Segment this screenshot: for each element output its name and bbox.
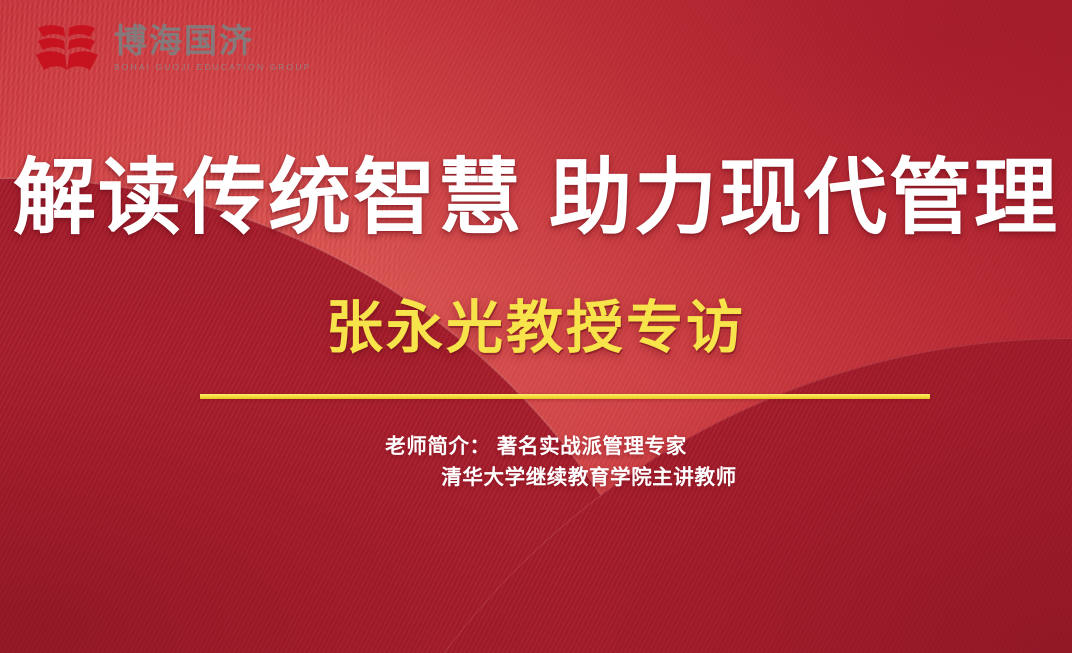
open-book-logo-icon — [34, 22, 100, 76]
brand-logo-text: 博海国济 BOHAI GUOJI EDUCATION GROUP — [114, 22, 309, 72]
brand-name-en: BOHAI GUOJI EDUCATION GROUP — [114, 62, 311, 72]
brand-name-cn: 博海国济 — [114, 24, 309, 57]
divider-rule — [200, 394, 930, 399]
page-subtitle: 张永光教授专访 — [0, 300, 1072, 357]
speaker-bio-line-2: 清华大学继续教育学院主讲教师 — [0, 462, 1072, 493]
poster-content: 博海国济 BOHAI GUOJI EDUCATION GROUP 解读传统智慧助… — [0, 0, 1072, 653]
page-title-part-1: 解读传统智慧 — [13, 151, 523, 244]
speaker-bio-line-1: 老师简介： 著名实战派管理专家 — [0, 431, 1072, 462]
brand-logo: 博海国济 BOHAI GUOJI EDUCATION GROUP — [34, 22, 309, 76]
speaker-bio: 老师简介： 著名实战派管理专家 清华大学继续教育学院主讲教师 — [0, 431, 1072, 493]
page-title: 解读传统智慧助力现代管理 — [0, 156, 1072, 239]
page-title-part-2: 助力现代管理 — [549, 151, 1059, 244]
title-card-poster: 博海国济 BOHAI GUOJI EDUCATION GROUP 解读传统智慧助… — [0, 0, 1072, 653]
